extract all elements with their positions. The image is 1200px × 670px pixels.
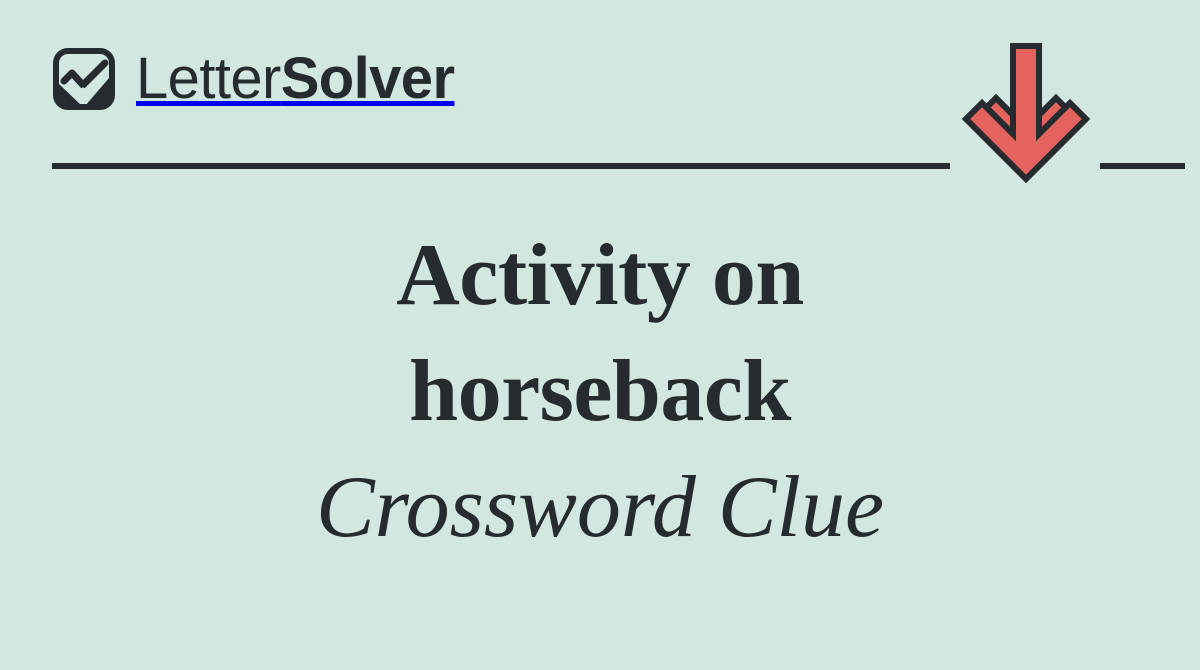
brand-name-bold: Solver xyxy=(281,50,455,108)
page-subtitle: Crossword Clue xyxy=(0,456,1200,560)
page-title: Activity on horseback xyxy=(280,218,920,450)
check-square-icon xyxy=(52,47,116,111)
brand-name-light: Letter xyxy=(136,50,281,108)
divider-rule-left xyxy=(52,163,950,169)
brand-logo-link[interactable]: LetterSolver xyxy=(52,42,454,116)
double-chevron-down-arrow-icon xyxy=(960,38,1092,190)
header-divider-row xyxy=(0,150,1200,210)
divider-rule-right xyxy=(1100,163,1185,169)
clue-block: Activity on horseback Crossword Clue xyxy=(0,218,1200,560)
page-root: LetterSolver Activity on horseback Cross… xyxy=(0,0,1200,670)
brand-wordmark: LetterSolver xyxy=(136,50,454,108)
